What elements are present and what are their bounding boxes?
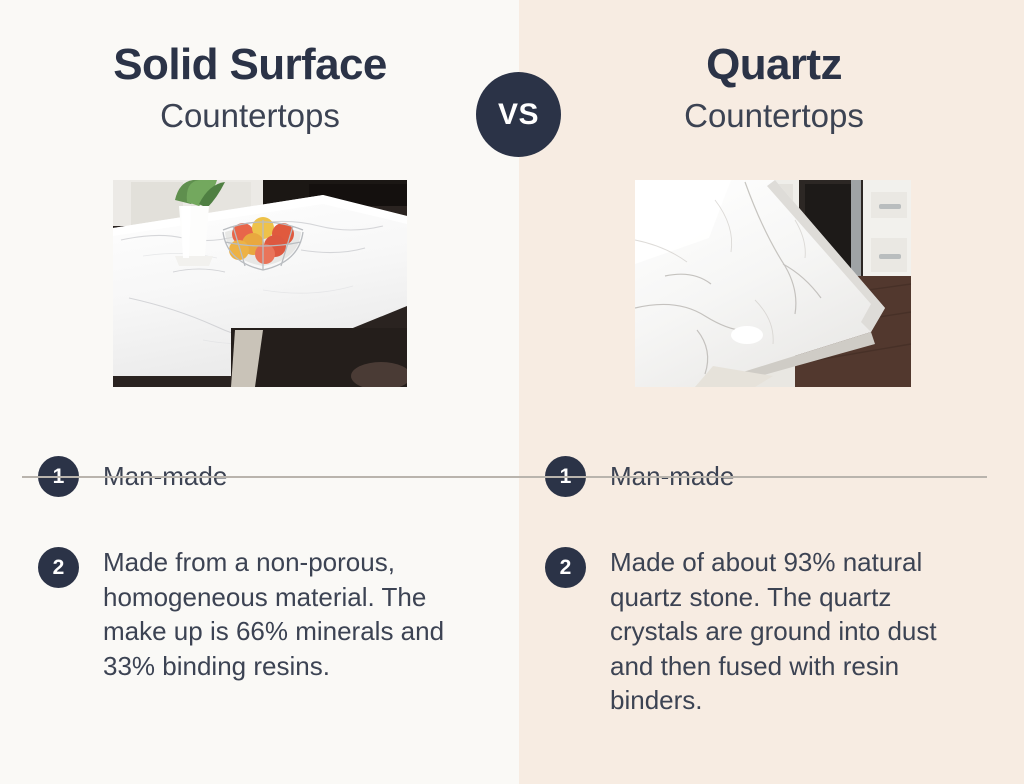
countertop-photo-right (635, 180, 911, 387)
number-badge: 2 (38, 547, 79, 588)
vs-badge-icon: VS (476, 72, 561, 157)
list-item-left-2: 2 Made from a non-porous, homogeneous ma… (0, 545, 519, 718)
number-badge: 2 (545, 547, 586, 588)
page-subtitle-left: Countertops (0, 96, 500, 136)
column-header-left: Solid Surface Countertops (0, 42, 500, 136)
row-divider (22, 476, 987, 478)
list-item-right-2: 2 Made of about 93% natural quartz stone… (519, 545, 1024, 718)
table-row: 2 Made from a non-porous, homogeneous ma… (0, 513, 1024, 718)
countertop-photo-left-graphic (113, 180, 407, 387)
page-title-right: Quartz (524, 42, 1024, 88)
comparison-rows: 1 Man-made 1 Man-made 2 Made from a non-… (0, 440, 1024, 718)
comparison-infographic: Solid Surface Countertops Quartz Counter… (0, 0, 1024, 784)
column-header-right: Quartz Countertops (524, 42, 1024, 136)
table-row: 1 Man-made 1 Man-made (0, 440, 1024, 513)
list-item-text: Made of about 93% natural quartz stone. … (610, 545, 978, 718)
page-title-left: Solid Surface (0, 42, 500, 88)
page-subtitle-right: Countertops (524, 96, 1024, 136)
countertop-photo-right-graphic (635, 180, 911, 387)
list-item-text: Made from a non-porous, homogeneous mate… (103, 545, 475, 683)
countertop-photo-left (113, 180, 407, 387)
